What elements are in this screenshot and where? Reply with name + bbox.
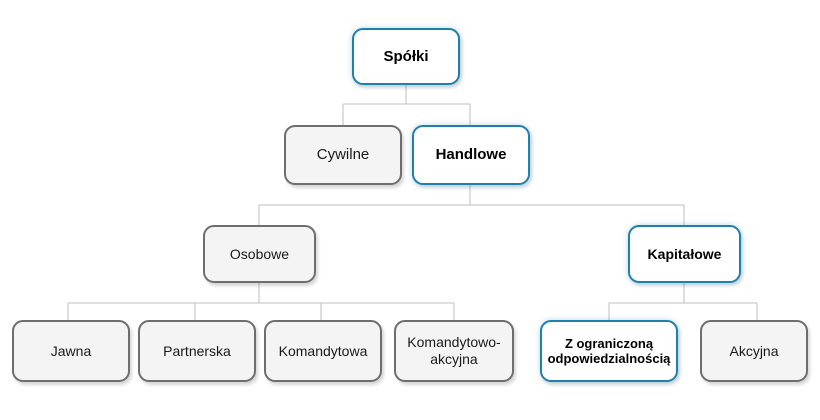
node-label: Spółki bbox=[377, 48, 434, 66]
edge-kapitalowe-bus bbox=[609, 283, 757, 320]
node-label: Kapitałowe bbox=[642, 246, 728, 263]
node-cywilne[interactable]: Cywilne bbox=[284, 125, 402, 185]
node-komandytowo-akcyjna[interactable]: Komandytowo- akcyjna bbox=[394, 320, 514, 382]
node-spolki[interactable]: Spółki bbox=[352, 28, 460, 85]
edge-spolki-bus bbox=[343, 85, 470, 125]
node-z-ograniczona-odpowiedzialnoscia[interactable]: Z ograniczoną odpowiedzialnością bbox=[540, 320, 678, 382]
node-label: Komandytowo- akcyjna bbox=[401, 334, 506, 367]
node-label: Z ograniczoną odpowiedzialnością bbox=[542, 336, 677, 367]
node-komandytowa[interactable]: Komandytowa bbox=[264, 320, 382, 382]
node-label: Akcyjna bbox=[723, 343, 784, 360]
node-label: Osobowe bbox=[224, 246, 295, 263]
node-kapitalowe[interactable]: Kapitałowe bbox=[628, 225, 741, 283]
org-chart: Spółki Cywilne Handlowe Osobowe Kapitało… bbox=[0, 0, 820, 420]
node-label: Handlowe bbox=[430, 146, 513, 164]
node-label: Komandytowa bbox=[273, 343, 374, 360]
node-jawna[interactable]: Jawna bbox=[12, 320, 130, 382]
node-akcyjna[interactable]: Akcyjna bbox=[700, 320, 808, 382]
node-label: Partnerska bbox=[157, 343, 237, 360]
node-osobowe[interactable]: Osobowe bbox=[203, 225, 316, 283]
node-label: Jawna bbox=[45, 343, 97, 360]
node-handlowe[interactable]: Handlowe bbox=[412, 125, 530, 185]
edge-handlowe-bus bbox=[259, 185, 684, 225]
node-partnerska[interactable]: Partnerska bbox=[138, 320, 256, 382]
node-label: Cywilne bbox=[311, 146, 376, 164]
edge-osobowe-bus bbox=[68, 283, 454, 320]
